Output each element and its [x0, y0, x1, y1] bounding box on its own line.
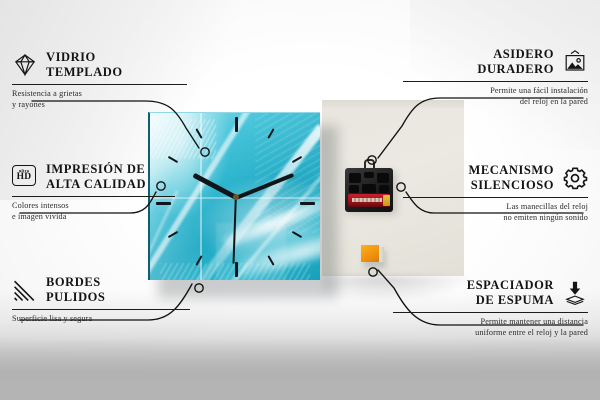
feature-title-line1: MECANISMO: [468, 163, 554, 178]
feature-asidero-duradero: ASIDERO DURADERO Permite una fácil insta…: [403, 47, 588, 108]
feature-desc-line1: Superficie lisa y segura: [12, 313, 202, 325]
feature-title-line1: ASIDERO: [477, 47, 554, 62]
feature-divider: [403, 81, 588, 82]
diamond-icon: [12, 53, 38, 77]
feature-title-line2: TEMPLADO: [46, 65, 123, 80]
feature-title-line2: DURADERO: [477, 62, 554, 77]
feature-divider: [12, 309, 190, 310]
feature-desc-line2: del reloj en la pared: [403, 96, 588, 108]
feature-desc-line1: Permite una fácil instalación: [403, 85, 588, 97]
press-down-layers-icon: [562, 281, 588, 305]
feature-title-line1: IMPRESIÓN DE: [46, 162, 146, 177]
feature-title-line2: SILENCIOSO: [468, 178, 554, 193]
ultra-hd-icon-main-text: HD: [17, 173, 32, 183]
feature-desc-line2: e imagen vívida: [12, 211, 197, 223]
feature-impresion-alta-calidad: ultra HD IMPRESIÓN DE ALTA CALIDAD Color…: [12, 162, 197, 223]
callout-dot-espaciador: [369, 268, 377, 276]
feature-vidrio-templado: VIDRIO TEMPLADO Resistencia a grietas y …: [12, 50, 197, 111]
feature-bordes-pulidos: BORDES PULIDOS Superficie lisa y segura: [12, 275, 202, 324]
feature-divider: [12, 84, 187, 85]
infographic-canvas: VIDRIO TEMPLADO Resistencia a grietas y …: [0, 0, 600, 400]
feature-desc-line1: Permite mantener una distancia: [393, 316, 588, 328]
feature-title-line2: DE ESPUMA: [467, 293, 554, 308]
feature-espaciador-de-espuma: ESPACIADOR DE ESPUMA Permite mantener un…: [393, 278, 588, 339]
feature-divider: [12, 196, 175, 197]
feature-divider: [403, 197, 588, 198]
ultra-hd-icon: ultra HD: [12, 165, 38, 189]
feature-desc-line1: Las manecillas del reloj: [403, 201, 588, 213]
feature-title-line2: PULIDOS: [46, 290, 105, 305]
feature-mecanismo-silencioso: MECANISMO SILENCIOSO Las manecillas del …: [403, 163, 588, 224]
gear-icon: [562, 166, 588, 190]
feature-title-line2: ALTA CALIDAD: [46, 177, 146, 192]
callout-dot-asidero: [368, 156, 376, 164]
feature-title-line1: BORDES: [46, 275, 105, 290]
feature-desc-line1: Resistencia a grietas: [12, 88, 197, 100]
callout-dot-vidrio-templado: [201, 148, 209, 156]
feature-divider: [393, 312, 588, 313]
feature-desc-line2: no emiten ningún sonido: [403, 212, 588, 224]
polished-edges-icon: [12, 278, 38, 302]
feature-title-line1: VIDRIO: [46, 50, 123, 65]
feature-title-line1: ESPACIADOR: [467, 278, 554, 293]
feature-desc-line2: uniforme entre el reloj y la pared: [393, 327, 588, 339]
picture-frame-hanger-icon: [562, 50, 588, 74]
feature-desc-line1: Colores intensos: [12, 200, 197, 212]
feature-desc-line2: y rayones: [12, 99, 197, 111]
